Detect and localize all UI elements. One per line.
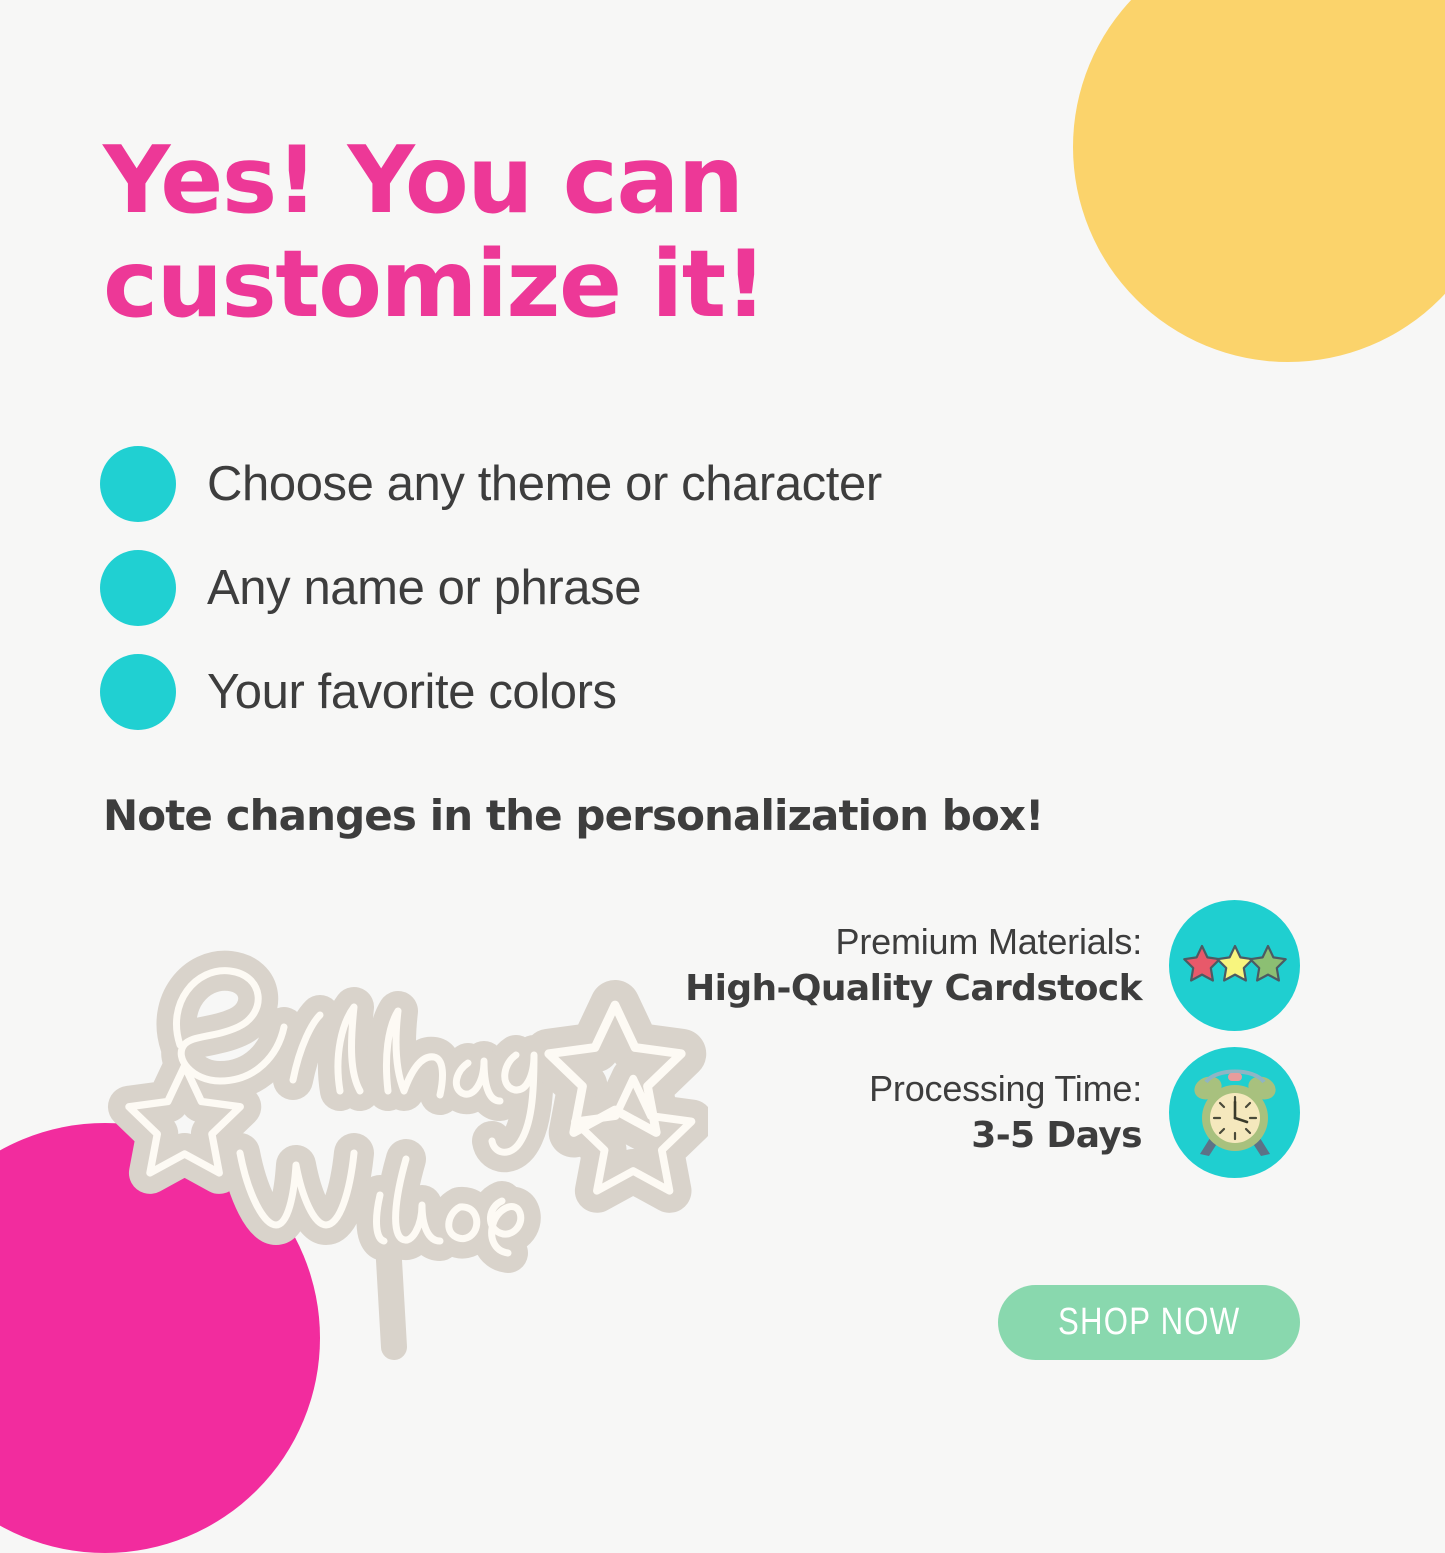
- bullet-label: Choose any theme or character: [207, 456, 882, 512]
- headline-line-1: Yes! You can: [103, 126, 742, 234]
- badge-premium-materials: Premium Materials: High-Quality Cardstoc…: [685, 900, 1300, 1031]
- badge-text-block: Premium Materials: High-Quality Cardstoc…: [685, 919, 1142, 1011]
- birthday-wishes-cake-topper-image: [88, 895, 708, 1365]
- bullet-dot-icon: [100, 446, 176, 522]
- yellow-circle-decoration: [1073, 0, 1445, 362]
- headline-line-2: customize it!: [103, 232, 933, 336]
- badge-label: Processing Time:: [869, 1066, 1142, 1112]
- bullet-label: Your favorite colors: [207, 664, 617, 720]
- badge-processing-time: Processing Time: 3-5 Days: [869, 1047, 1300, 1178]
- badge-value: High-Quality Cardstock: [685, 966, 1142, 1012]
- badge-value: 3-5 Days: [869, 1113, 1142, 1159]
- list-item: Your favorite colors: [100, 640, 1100, 744]
- list-item: Choose any theme or character: [100, 432, 1100, 536]
- list-item: Any name or phrase: [100, 536, 1100, 640]
- bullet-label: Any name or phrase: [207, 560, 641, 616]
- alarm-clock-icon: [1169, 1047, 1300, 1178]
- bullet-dot-icon: [100, 550, 176, 626]
- three-stars-icon: [1169, 900, 1300, 1031]
- badge-text-block: Processing Time: 3-5 Days: [869, 1066, 1142, 1158]
- page-title: Yes! You can customize it!: [103, 128, 933, 336]
- shop-now-label: SHOP NOW: [1058, 1301, 1240, 1344]
- bullet-dot-icon: [100, 654, 176, 730]
- shop-now-button[interactable]: SHOP NOW: [998, 1285, 1300, 1360]
- badge-label: Premium Materials:: [685, 919, 1142, 965]
- personalization-note: Note changes in the personalization box!: [103, 791, 1043, 840]
- feature-bullet-list: Choose any theme or character Any name o…: [100, 432, 1100, 744]
